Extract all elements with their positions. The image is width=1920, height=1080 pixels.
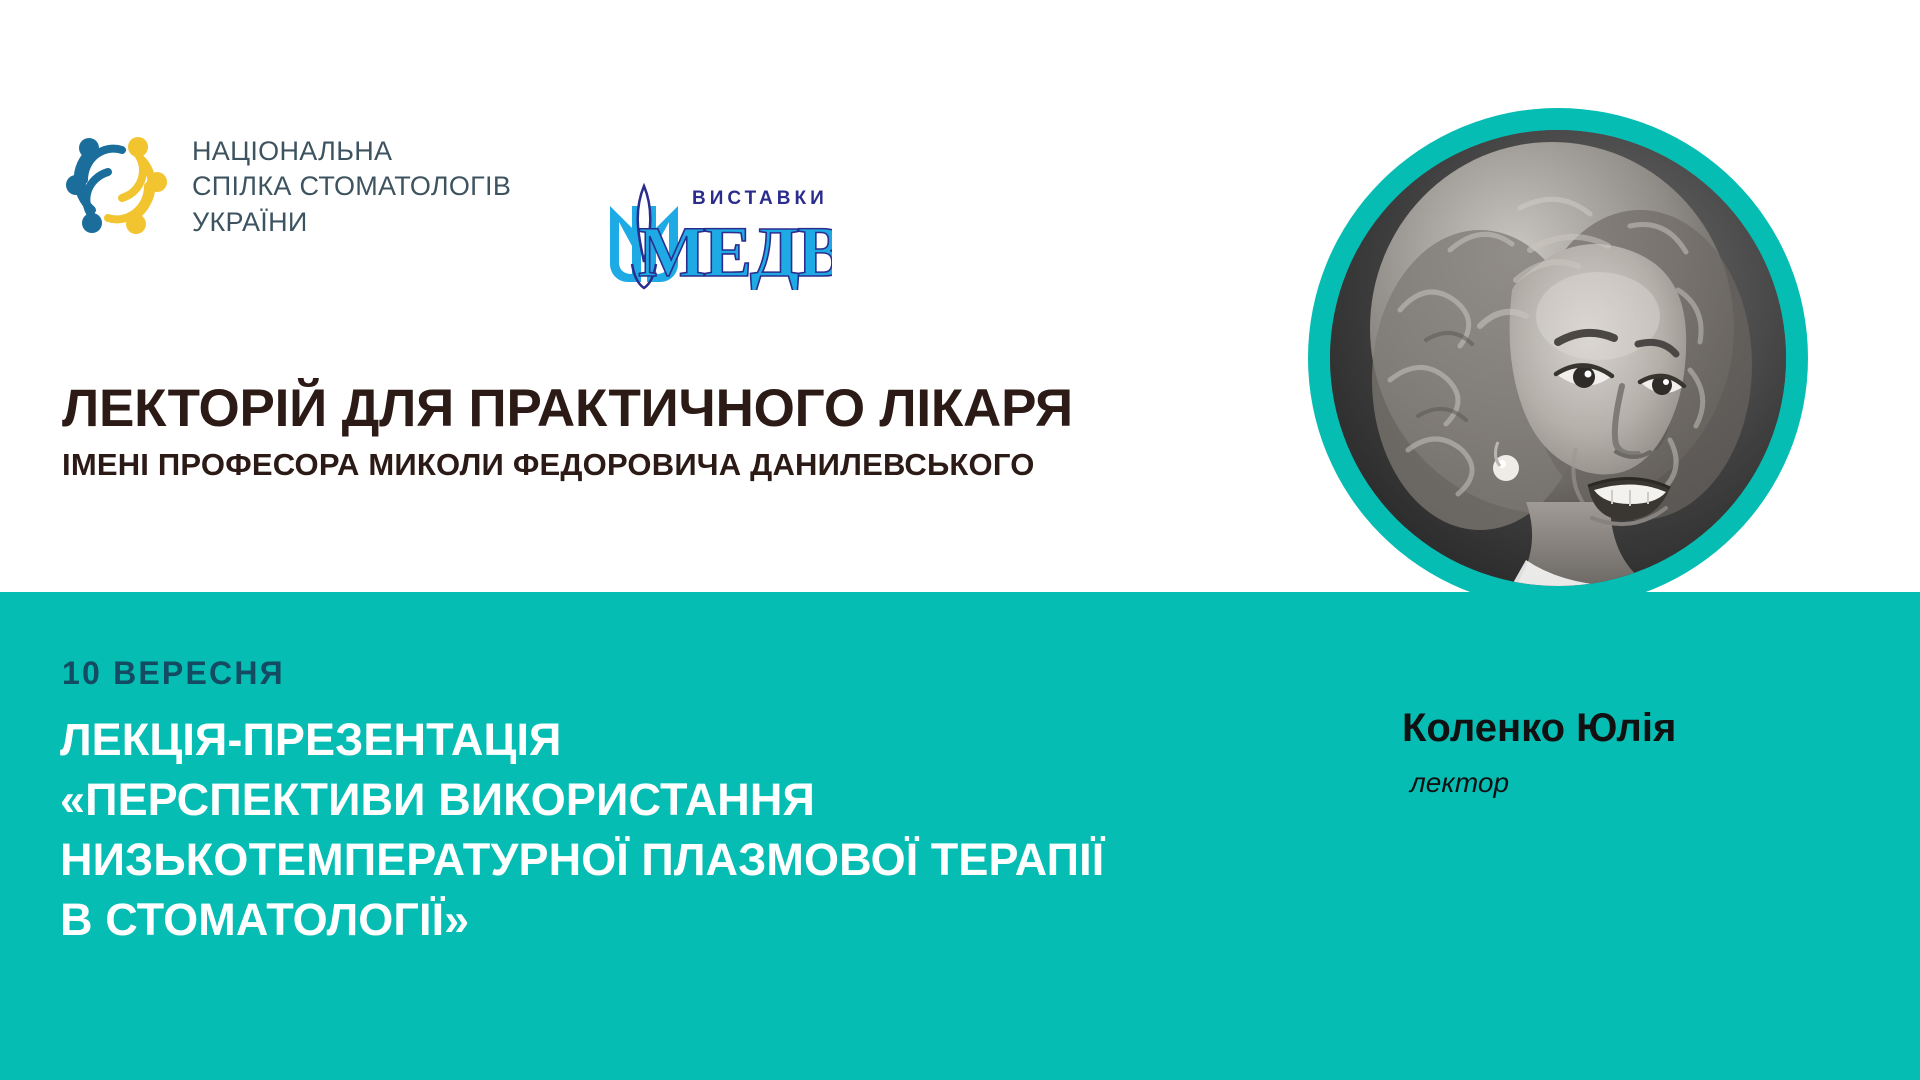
organization-logo-line-1: НАЦІОНАЛЬНА <box>192 134 511 169</box>
organization-logo-line-2: СПІЛКА СТОМАТОЛОГІВ <box>192 169 511 204</box>
event-banner: НАЦІОНАЛЬНА СПІЛКА СТОМАТОЛОГІВ УКРАЇНИ … <box>0 0 1920 1080</box>
speaker-block: Коленко Юлія лектор <box>1402 706 1882 799</box>
organization-logo: НАЦІОНАЛЬНА СПІЛКА СТОМАТОЛОГІВ УКРАЇНИ <box>62 128 511 246</box>
partner-logo: ВИСТАВКИ МЕДВІН <box>592 178 832 290</box>
lecture-title: ЛЕКЦІЯ-ПРЕЗЕНТАЦІЯ «ПЕРСПЕКТИВИ ВИКОРИСТ… <box>60 710 1290 949</box>
lecture-title-line-2: «ПЕРСПЕКТИВИ ВИКОРИСТАННЯ <box>60 770 1290 830</box>
speaker-role: лектор <box>1410 768 1882 799</box>
nsu-circular-figures-icon <box>62 128 170 246</box>
organization-logo-text: НАЦІОНАЛЬНА СПІЛКА СТОМАТОЛОГІВ УКРАЇНИ <box>192 134 511 239</box>
speaker-portrait-ring <box>1308 108 1808 608</box>
lecture-title-line-3: НИЗЬКОТЕМПЕРАТУРНОЇ ПЛАЗМОВОЇ ТЕРАПІЇ <box>60 830 1290 890</box>
lecture-title-line-4: В СТОМАТОЛОГІЇ» <box>60 890 1290 950</box>
partner-logo-top-label: ВИСТАВКИ <box>692 188 828 209</box>
partner-logo-main-label: МЕДВІН <box>638 212 832 290</box>
lecture-title-line-1: ЛЕКЦІЯ-ПРЕЗЕНТАЦІЯ <box>60 710 1290 770</box>
event-date: 10 ВЕРЕСНЯ <box>62 655 285 692</box>
headline-block: ЛЕКТОРІЙ ДЛЯ ПРАКТИЧНОГО ЛІКАРЯ ІМЕНІ ПР… <box>62 382 1242 480</box>
speaker-portrait-photo <box>1330 130 1786 586</box>
page-title: ЛЕКТОРІЙ ДЛЯ ПРАКТИЧНОГО ЛІКАРЯ <box>62 382 1242 435</box>
organization-logo-line-3: УКРАЇНИ <box>192 205 511 240</box>
page-subtitle: ІМЕНІ ПРОФЕСОРА МИКОЛИ ФЕДОРОВИЧА ДАНИЛЕ… <box>62 449 1242 480</box>
speaker-name: Коленко Юлія <box>1402 706 1882 750</box>
logo-row: НАЦІОНАЛЬНА СПІЛКА СТОМАТОЛОГІВ УКРАЇНИ … <box>0 0 1300 300</box>
